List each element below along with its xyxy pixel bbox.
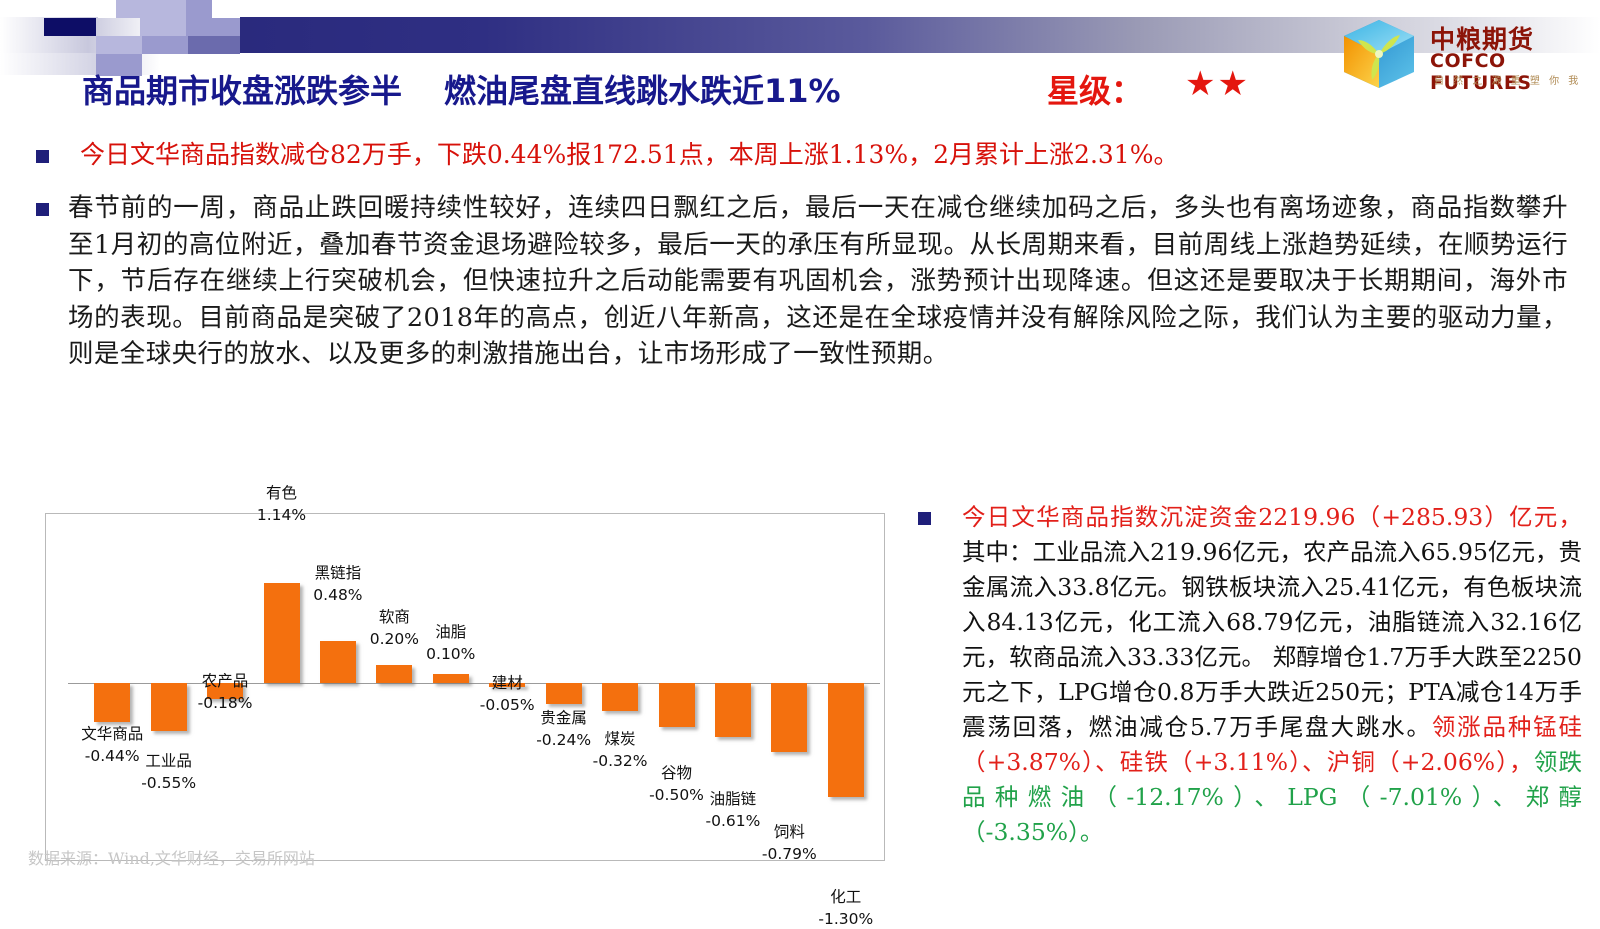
capital-flow-segment-0: 今日文华商品指数沉淀资金2219.96（+285.93）亿元， <box>962 503 1582 531</box>
page-title: 商品期市收盘涨跌参半燃油尾盘直线跳水跌近11% <box>82 66 841 112</box>
deco-square-6 <box>186 18 240 36</box>
deco-square-5 <box>140 18 186 36</box>
lead-summary-line: 今日文华商品指数减仓82万手，下跌0.44%报172.51点，本周上涨1.13%… <box>80 139 1580 170</box>
chart-bar-value: -0.55% <box>114 773 224 793</box>
chart-bar <box>771 683 807 752</box>
deco-square-7 <box>96 36 142 54</box>
deco-square-3 <box>98 0 116 18</box>
chart-bar-label: 谷物 <box>622 763 732 783</box>
page-title-part1: 商品期市收盘涨跌参半 <box>82 72 402 110</box>
chart-bar-label: 油脂链 <box>678 789 788 809</box>
chart-bar-label: 有色 <box>227 483 337 503</box>
chart-bar <box>715 683 751 737</box>
bullet-marker-lead <box>36 150 49 163</box>
deco-square-navy <box>44 18 96 36</box>
deco-square-9 <box>188 36 240 54</box>
chart-bar-label: 工业品 <box>114 751 224 771</box>
title-row: 商品期市收盘涨跌参半燃油尾盘直线跳水跌近11% 星级： ★★ <box>0 66 1600 118</box>
chart-bar-label: 饲料 <box>734 822 844 842</box>
chart-bar-value: 0.10% <box>396 644 506 664</box>
chart-bar-value: 0.48% <box>283 585 393 605</box>
chart-plot-area: 文华商品-0.44%工业品-0.55%农产品-0.18%有色1.14%黑链指0.… <box>46 514 886 862</box>
deco-square-8 <box>142 36 188 54</box>
chart-bar-label: 煤炭 <box>565 729 675 749</box>
capital-flow-paragraph: 今日文华商品指数沉淀资金2219.96（+285.93）亿元，其中：工业品流入2… <box>962 500 1582 850</box>
page-title-part2: 燃油尾盘直线跳水跌近11% <box>444 72 841 110</box>
chart-bar-value: -0.18% <box>170 693 280 713</box>
chart-bar <box>546 683 582 704</box>
chart-bar <box>659 683 695 727</box>
sector-change-bar-chart: 文华商品-0.44%工业品-0.55%农产品-0.18%有色1.14%黑链指0.… <box>45 513 885 861</box>
chart-bar-label: 黑链指 <box>283 563 393 583</box>
chart-bar-value: -0.79% <box>734 844 844 864</box>
bullet-marker-body <box>36 203 49 216</box>
bullet-marker-right <box>918 512 931 525</box>
deco-square-4 <box>186 0 212 18</box>
body-paragraph: 春节前的一周，商品止跌回暖持续性较好，连续四日飘红之后，最后一天在减仓继续加码之… <box>68 190 1568 373</box>
star-rating-label: 星级： <box>1047 66 1143 112</box>
star-rating-stars: ★★ <box>1185 66 1250 102</box>
chart-bar-label: 化工 <box>791 887 901 907</box>
chart-bar <box>94 683 130 722</box>
chart-source-note: 数据来源：Wind,文华财经，交易所网站 <box>28 845 315 869</box>
chart-bar <box>828 683 864 797</box>
chart-bar-label: 油脂 <box>396 622 506 642</box>
chart-bar <box>602 683 638 711</box>
capital-flow-segment-1: 其中：工业品流入219.96亿元，农产品流入65.95亿元，贵金属流入33.8亿… <box>962 538 1582 741</box>
chart-bar <box>376 665 412 683</box>
deco-square-2 <box>140 0 186 18</box>
chart-bar-value: -1.30% <box>791 909 901 929</box>
chart-bar-value: 1.14% <box>227 505 337 525</box>
